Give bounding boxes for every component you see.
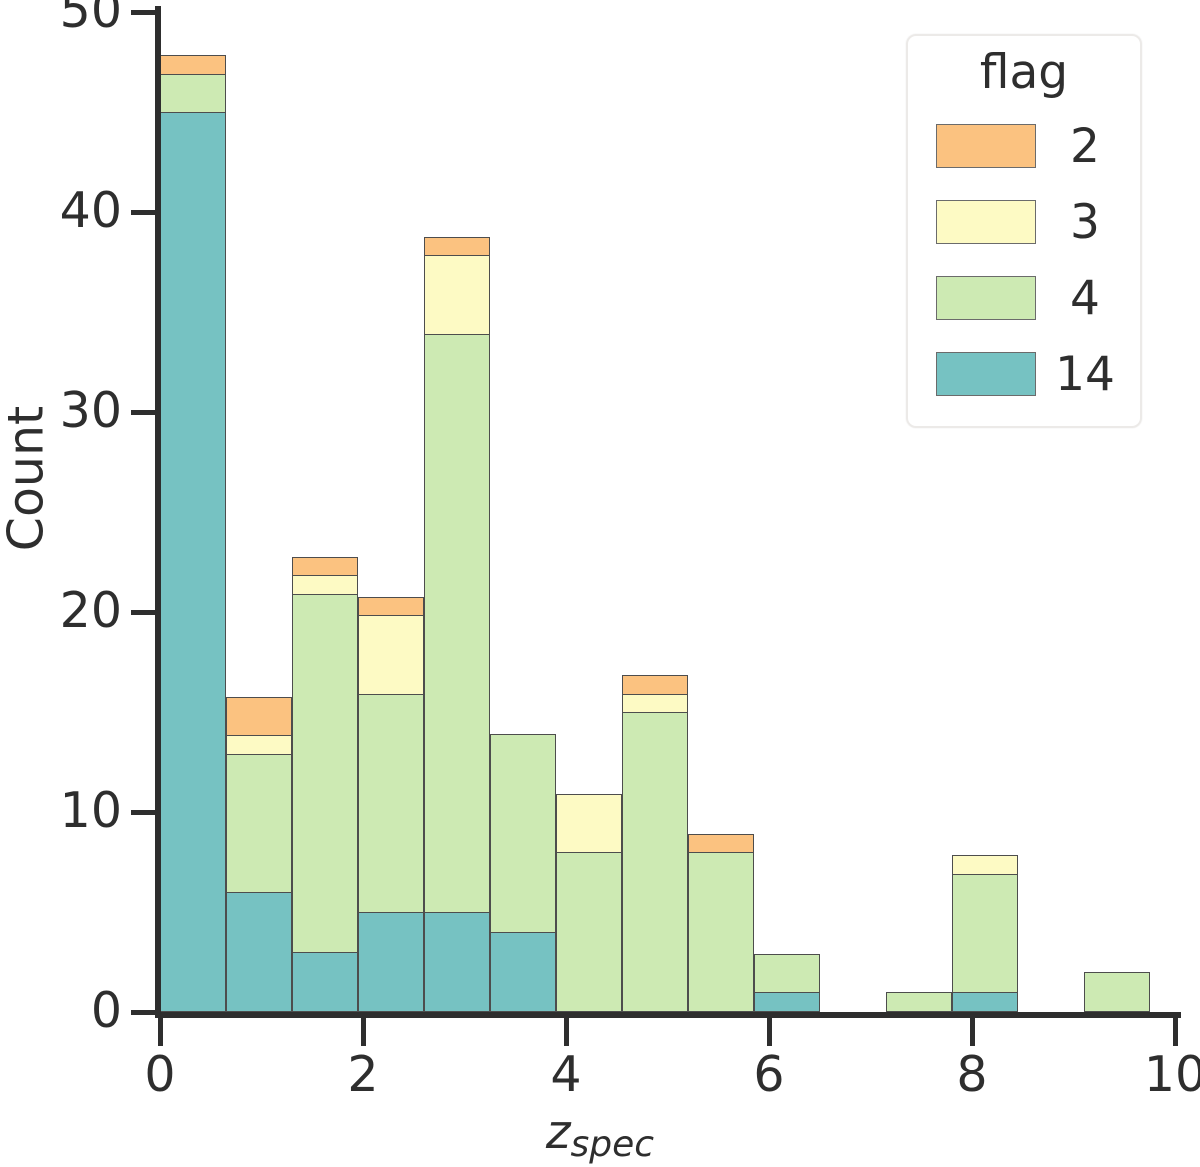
- bar-segment-flag-14: [952, 992, 1018, 1012]
- histogram-bar: [952, 852, 1018, 1012]
- x-tick-label: 0: [144, 1050, 175, 1099]
- bar-segment-flag-14: [490, 932, 556, 1012]
- x-axis-label: zspec: [0, 1105, 1200, 1165]
- x-tick-label: 4: [550, 1050, 581, 1099]
- histogram-bar: [622, 672, 688, 1012]
- histogram-bar: [358, 592, 424, 1012]
- x-axis-label-subscript: spec: [571, 1124, 655, 1165]
- y-tick-label: 40: [60, 186, 122, 235]
- y-tick-label: 50: [60, 0, 122, 35]
- histogram-bar: [886, 992, 952, 1012]
- bar-segment-flag-2: [226, 697, 292, 737]
- bar-segment-flag-3: [226, 735, 292, 755]
- y-tick: [131, 610, 157, 615]
- y-tick: [131, 1010, 157, 1015]
- legend-swatch-flag-4: [936, 276, 1036, 320]
- legend: flag 23414: [906, 34, 1142, 428]
- x-tick: [767, 1018, 772, 1046]
- bar-segment-flag-4: [292, 594, 358, 954]
- x-tick-label: 2: [347, 1050, 378, 1099]
- bar-segment-flag-4: [952, 874, 1018, 994]
- histogram-bar: [160, 52, 226, 1012]
- bar-segment-flag-4: [622, 712, 688, 1012]
- x-tick: [1173, 1018, 1178, 1046]
- x-tick-label: 6: [753, 1050, 784, 1099]
- bar-segment-flag-4: [358, 694, 424, 914]
- bar-segment-flag-2: [160, 55, 226, 75]
- histogram-bar: [490, 732, 556, 1012]
- bar-segment-flag-4: [1084, 972, 1150, 1012]
- y-axis-spine: [155, 6, 161, 1018]
- legend-entry[interactable]: 4: [908, 260, 1140, 336]
- bar-segment-flag-14: [754, 992, 820, 1012]
- legend-swatch-flag-14: [936, 352, 1036, 396]
- bar-segment-flag-2: [424, 237, 490, 257]
- x-tick: [361, 1018, 366, 1046]
- bar-segment-flag-3: [952, 855, 1018, 875]
- histogram-bar: [226, 692, 292, 1012]
- x-tick-label: 8: [956, 1050, 987, 1099]
- legend-swatch-flag-2: [936, 124, 1036, 168]
- bar-segment-flag-2: [622, 675, 688, 695]
- bar-segment-flag-4: [754, 954, 820, 994]
- y-tick: [131, 810, 157, 815]
- y-tick: [131, 410, 157, 415]
- bar-segment-flag-4: [490, 734, 556, 934]
- histogram-bar: [688, 832, 754, 1012]
- histogram-bar: [1084, 972, 1150, 1012]
- legend-label: 4: [1036, 275, 1140, 322]
- bar-segment-flag-4: [556, 852, 622, 1012]
- bar-segment-flag-3: [556, 794, 622, 854]
- x-tick: [158, 1018, 163, 1046]
- histogram-figure: Count zspec flag 23414 01020304050024681…: [0, 0, 1200, 1167]
- legend-title: flag: [908, 46, 1140, 108]
- y-tick: [131, 10, 157, 15]
- bar-segment-flag-3: [358, 615, 424, 695]
- legend-entry[interactable]: 2: [908, 108, 1140, 184]
- legend-swatch-flag-3: [936, 200, 1036, 244]
- legend-label: 14: [1036, 351, 1140, 398]
- bar-segment-flag-14: [424, 912, 490, 1012]
- bar-segment-flag-3: [424, 255, 490, 335]
- bar-segment-flag-14: [358, 912, 424, 1012]
- y-tick: [131, 210, 157, 215]
- y-tick-label: 30: [60, 386, 122, 435]
- bar-segment-flag-2: [688, 834, 754, 854]
- x-axis-spine: [155, 1012, 1181, 1018]
- bar-segment-flag-14: [226, 892, 292, 1012]
- x-tick: [564, 1018, 569, 1046]
- bar-segment-flag-4: [160, 74, 226, 114]
- legend-entry[interactable]: 3: [908, 184, 1140, 260]
- legend-entry[interactable]: 14: [908, 336, 1140, 412]
- bar-segment-flag-2: [292, 557, 358, 577]
- x-axis-label-base: z: [546, 1105, 571, 1160]
- legend-label: 2: [1036, 123, 1140, 170]
- x-tick: [970, 1018, 975, 1046]
- bar-segment-flag-4: [886, 992, 952, 1012]
- histogram-bar: [556, 792, 622, 1012]
- bar-segment-flag-4: [424, 334, 490, 914]
- bar-segment-flag-4: [688, 852, 754, 1012]
- legend-entries: 23414: [908, 108, 1140, 412]
- histogram-bar: [754, 952, 820, 1012]
- bar-segment-flag-3: [292, 575, 358, 595]
- histogram-bar: [424, 232, 490, 1012]
- y-tick-label: 20: [60, 586, 122, 635]
- bar-segment-flag-14: [292, 952, 358, 1012]
- x-tick-label: 10: [1144, 1050, 1200, 1099]
- y-axis-label: Count: [0, 249, 55, 709]
- bar-segment-flag-4: [226, 754, 292, 894]
- bar-segment-flag-14: [160, 112, 226, 1012]
- y-tick-label: 0: [91, 986, 122, 1035]
- histogram-bar: [292, 552, 358, 1012]
- y-tick-label: 10: [60, 786, 122, 835]
- bar-segment-flag-2: [358, 597, 424, 617]
- legend-label: 3: [1036, 199, 1140, 246]
- bar-segment-flag-3: [622, 694, 688, 714]
